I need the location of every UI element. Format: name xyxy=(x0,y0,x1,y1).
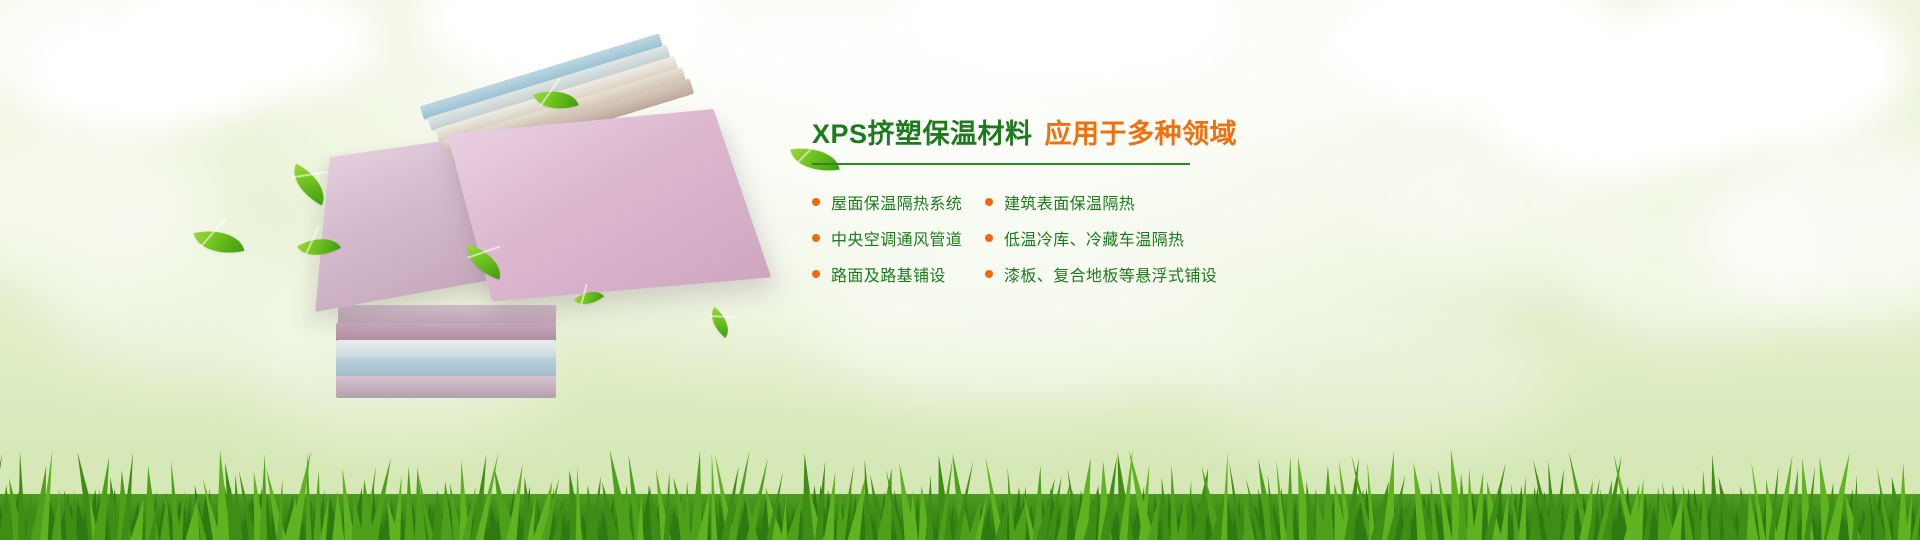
banner-text-block: XPS挤塑保温材料应用于多种领域 屋面保温隔热系统 中央空调通风管道 路面及路基… xyxy=(812,118,1432,292)
list-item-label: 路面及路基铺设 xyxy=(831,262,946,286)
cloud-icon xyxy=(900,0,1240,84)
list-item: 屋面保温隔热系统 xyxy=(812,184,985,220)
bullet-dot-icon xyxy=(812,270,820,278)
list-item-label: 建筑表面保温隔热 xyxy=(1004,190,1135,214)
board-layer xyxy=(336,376,556,398)
list-item: 漆板、复合地板等悬浮式铺设 xyxy=(985,256,1217,292)
cloud-icon xyxy=(30,18,260,128)
application-column-left: 屋面保温隔热系统 中央空调通风管道 路面及路基铺设 xyxy=(812,184,985,292)
bullet-dot-icon xyxy=(812,198,820,206)
bullet-dot-icon xyxy=(985,198,993,206)
list-item-label: 中央空调通风管道 xyxy=(831,226,962,250)
cloud-icon xyxy=(0,0,260,120)
list-item-label: 低温冷库、冷藏车温隔热 xyxy=(1004,226,1184,250)
headline-accent: 应用于多种领域 xyxy=(1045,119,1238,149)
promo-banner: XPS挤塑保温材料应用于多种领域 屋面保温隔热系统 中央空调通风管道 路面及路基… xyxy=(0,0,1920,540)
title-divider xyxy=(812,163,1190,165)
page-title: XPS挤塑保温材料应用于多种领域 xyxy=(812,118,1432,152)
list-item-label: 屋面保温隔热系统 xyxy=(831,190,962,214)
bullet-dot-icon xyxy=(985,270,993,278)
list-item-label: 漆板、复合地板等悬浮式铺设 xyxy=(1004,262,1217,286)
list-item: 建筑表面保温隔热 xyxy=(985,184,1217,220)
grass-blade xyxy=(71,491,78,540)
application-lists: 屋面保温隔热系统 中央空调通风管道 路面及路基铺设 建筑表面保温隔热 xyxy=(812,184,1432,292)
application-column-right: 建筑表面保温隔热 低温冷库、冷藏车温隔热 漆板、复合地板等悬浮式铺设 xyxy=(985,184,1217,292)
headline-primary: XPS挤塑保温材料 xyxy=(812,119,1033,149)
cloud-icon xyxy=(1330,0,1630,116)
cloud-icon xyxy=(1480,30,1760,180)
grass-blade xyxy=(574,466,581,540)
bullet-dot-icon xyxy=(985,234,993,242)
leaf-icon xyxy=(194,224,245,261)
list-item: 低温冷库、冷藏车温隔热 xyxy=(985,220,1217,256)
bullet-dot-icon xyxy=(812,234,820,242)
list-item: 路面及路基铺设 xyxy=(812,256,985,292)
cloud-icon xyxy=(1610,0,1910,150)
grass-blade xyxy=(16,451,26,540)
cloud-icon xyxy=(0,120,220,280)
grass-icon xyxy=(0,410,1920,540)
cloud-icon xyxy=(1560,190,1820,340)
cloud-icon xyxy=(1700,130,1920,320)
cloud-icon xyxy=(1120,0,1420,120)
list-item: 中央空调通风管道 xyxy=(812,220,985,256)
